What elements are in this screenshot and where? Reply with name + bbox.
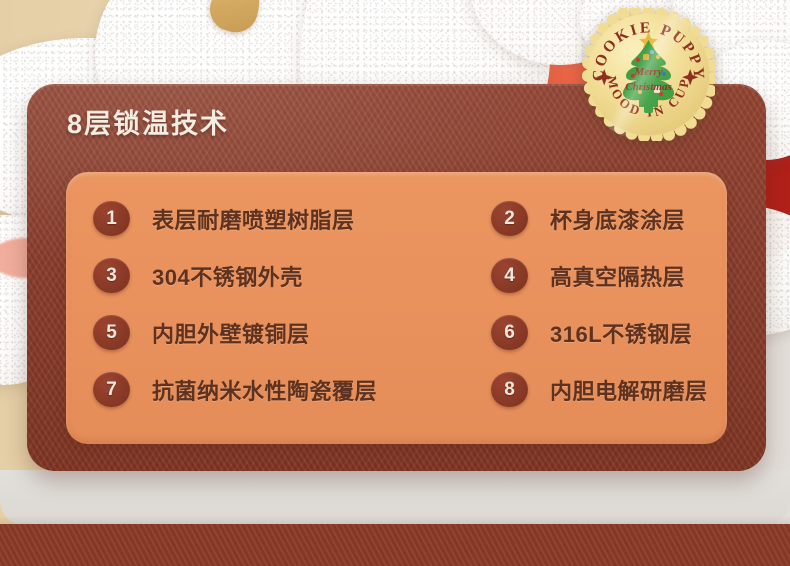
layers-grid: 1 表层耐磨喷塑树脂层 2 杯身底漆涂层 3 304不锈钢外壳 4 高真空隔热层… [66, 172, 727, 444]
layer-number-badge: 3 [93, 258, 130, 293]
bottom-light-panel [0, 470, 790, 526]
layer-label: 304不锈钢外壳 [152, 260, 303, 292]
list-item: 1 表层耐磨喷塑树脂层 [66, 190, 466, 247]
bottom-brown-strip [0, 524, 790, 566]
product-detail-image: 8层锁温技术 1 表层耐磨喷塑树脂层 2 杯身底漆涂层 3 304不锈钢外壳 4… [0, 0, 790, 566]
list-item: 5 内胆外壁镀铜层 [66, 304, 466, 361]
layer-number-badge: 1 [93, 201, 130, 236]
layer-label: 杯身底漆涂层 [550, 203, 685, 235]
list-item: 3 304不锈钢外壳 [66, 247, 466, 304]
list-item: 2 杯身底漆涂层 [466, 190, 727, 247]
list-item: 7 抗菌纳米水性陶瓷覆层 [66, 361, 466, 418]
layer-number-badge: 7 [93, 372, 130, 407]
layer-label: 内胆外壁镀铜层 [152, 317, 310, 349]
seal-center-line1: Merry [633, 66, 662, 78]
layer-label: 抗菌纳米水性陶瓷覆层 [152, 374, 377, 406]
layers-panel: 1 表层耐磨喷塑树脂层 2 杯身底漆涂层 3 304不锈钢外壳 4 高真空隔热层… [66, 172, 727, 444]
layer-label: 内胆电解研磨层 [550, 374, 708, 406]
feature-card: 8层锁温技术 1 表层耐磨喷塑树脂层 2 杯身底漆涂层 3 304不锈钢外壳 4… [27, 84, 766, 471]
layer-label: 316L不锈钢层 [550, 317, 692, 349]
seal-center-line2: Christmas [625, 81, 671, 93]
list-item: 6 316L不锈钢层 [466, 304, 727, 361]
list-item: 8 内胆电解研磨层 [466, 361, 727, 418]
layer-number-badge: 2 [491, 201, 528, 236]
layer-label: 高真空隔热层 [550, 260, 685, 292]
list-item: 4 高真空隔热层 [466, 247, 727, 304]
layer-label: 表层耐磨喷塑树脂层 [152, 203, 355, 235]
layer-number-badge: 5 [93, 315, 130, 350]
layer-number-badge: 4 [491, 258, 528, 293]
cookie-puppy-seal-badge: COOKIE PUPPY MOOD IN CUP [582, 8, 715, 141]
layer-number-badge: 6 [491, 315, 528, 350]
page-title: 8层锁温技术 [67, 102, 229, 141]
layer-number-badge: 8 [491, 372, 528, 407]
